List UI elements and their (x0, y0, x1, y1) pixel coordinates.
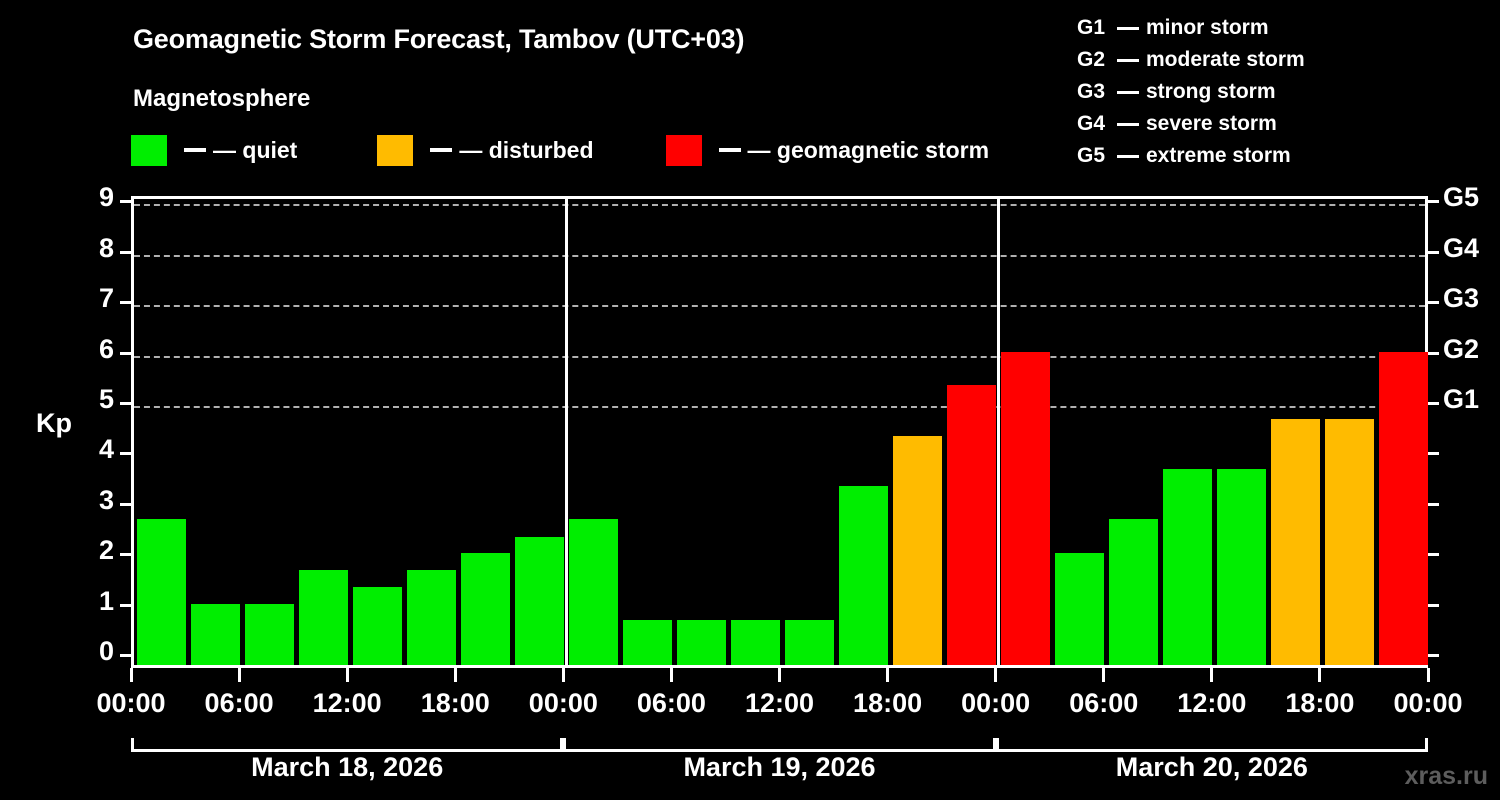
bar-quiet-20 (1217, 469, 1266, 665)
legend-swatch-disturbed-icon (377, 135, 413, 166)
date-label-1: March 18, 2026 (251, 752, 443, 783)
x-tick-11 (1318, 668, 1321, 682)
g-legend-description: moderate storm (1146, 48, 1305, 72)
x-tick-label-10: 12:00 (1177, 688, 1246, 719)
legend-dash-icon (719, 148, 741, 152)
x-tick-label-8: 00:00 (961, 688, 1030, 719)
legend-label-storm: — geomagnetic storm (748, 137, 990, 164)
x-tick-0 (130, 668, 133, 682)
x-tick-8 (994, 668, 997, 682)
bar-quiet-7 (515, 537, 564, 665)
em-dash-icon (1117, 91, 1139, 94)
y-right-tick-kp-1 (1428, 604, 1439, 607)
bar-quiet-10 (677, 620, 726, 665)
x-tick-9 (1102, 668, 1105, 682)
legend-label-quiet: — quiet (213, 137, 297, 164)
y-right-tick-kp-5 (1428, 402, 1439, 405)
y-tick-label-9: 9 (74, 182, 114, 213)
g-legend-row-g4: G4severe storm (1077, 108, 1305, 140)
g-axis-label-g1: G1 (1443, 384, 1479, 415)
bar-disturbed-21 (1271, 419, 1320, 665)
g-legend-code: G5 (1077, 144, 1110, 168)
bar-quiet-2 (245, 604, 294, 665)
y-tick-label-4: 4 (74, 434, 114, 465)
bar-quiet-5 (407, 570, 456, 665)
bar-quiet-17 (1055, 553, 1104, 665)
x-tick-label-5: 06:00 (637, 688, 706, 719)
x-tick-label-12: 00:00 (1393, 688, 1462, 719)
y-right-tick-kp-3 (1428, 503, 1439, 506)
g-legend-description: strong storm (1146, 80, 1276, 104)
x-tick-label-3: 18:00 (421, 688, 490, 719)
x-tick-6 (778, 668, 781, 682)
legend-entry-quiet: — quiet (131, 133, 297, 167)
y-tick-4 (120, 452, 131, 455)
geomagnetic-forecast-chart: Geomagnetic Storm Forecast, Tambov (UTC+… (0, 0, 1500, 800)
y-tick-6 (120, 352, 131, 355)
day-bracket-1 (131, 738, 563, 752)
x-tick-4 (562, 668, 565, 682)
magnetosphere-heading: Magnetosphere (133, 85, 310, 113)
bar-quiet-12 (785, 620, 834, 665)
magnetosphere-legend: — quiet — disturbed — geomagnetic storm (131, 133, 989, 167)
y-tick-label-2: 2 (74, 535, 114, 566)
g-axis-label-g3: G3 (1443, 283, 1479, 314)
legend-entry-storm: — geomagnetic storm (666, 133, 990, 167)
y-tick-3 (120, 503, 131, 506)
legend-swatch-storm-icon (666, 135, 702, 166)
bar-storm-15 (947, 385, 996, 665)
bar-quiet-13 (839, 486, 888, 665)
em-dash-icon (1117, 27, 1139, 30)
day-bracket-3 (996, 738, 1428, 752)
y-tick-label-3: 3 (74, 485, 114, 516)
x-tick-5 (670, 668, 673, 682)
y-tick-1 (120, 604, 131, 607)
day-bracket-2 (563, 738, 995, 752)
watermark: xras.ru (1405, 762, 1488, 791)
legend-dash-icon (430, 148, 452, 152)
x-tick-10 (1210, 668, 1213, 682)
y-tick-8 (120, 251, 131, 254)
legend-entry-disturbed: — disturbed (377, 133, 593, 167)
bar-quiet-9 (623, 620, 672, 665)
em-dash-icon (1117, 59, 1139, 62)
em-dash-icon (1117, 123, 1139, 126)
bar-quiet-4 (353, 587, 402, 665)
plot-area (131, 196, 1428, 668)
x-tick-label-6: 12:00 (745, 688, 814, 719)
y-tick-0 (120, 654, 131, 657)
x-tick-label-11: 18:00 (1285, 688, 1354, 719)
x-tick-label-2: 12:00 (313, 688, 382, 719)
g-legend-code: G1 (1077, 16, 1110, 40)
x-tick-2 (346, 668, 349, 682)
x-tick-label-7: 18:00 (853, 688, 922, 719)
page-title: Geomagnetic Storm Forecast, Tambov (UTC+… (133, 24, 744, 55)
g-axis-label-g4: G4 (1443, 233, 1479, 264)
g-scale-legend: G1minor stormG2moderate stormG3strong st… (1077, 12, 1305, 172)
date-label-2: March 19, 2026 (683, 752, 875, 783)
bar-quiet-19 (1163, 469, 1212, 665)
y-tick-5 (120, 402, 131, 405)
g-legend-row-g1: G1minor storm (1077, 12, 1305, 44)
bar-quiet-0 (137, 519, 186, 665)
x-tick-label-1: 06:00 (205, 688, 274, 719)
y-right-tick-kp-9 (1428, 200, 1439, 203)
g-legend-description: extreme storm (1146, 144, 1291, 168)
y-axis-title: Kp (36, 408, 72, 439)
y-tick-7 (120, 301, 131, 304)
g-legend-code: G3 (1077, 80, 1110, 104)
x-tick-label-4: 00:00 (529, 688, 598, 719)
x-tick-label-0: 00:00 (96, 688, 165, 719)
g-axis-label-g5: G5 (1443, 182, 1479, 213)
x-tick-3 (454, 668, 457, 682)
y-tick-label-7: 7 (74, 283, 114, 314)
date-label-3: March 20, 2026 (1116, 752, 1308, 783)
bar-quiet-11 (731, 620, 780, 665)
x-tick-label-9: 06:00 (1069, 688, 1138, 719)
g-legend-row-g5: G5extreme storm (1077, 140, 1305, 172)
bar-quiet-1 (191, 604, 240, 665)
g-legend-code: G4 (1077, 112, 1110, 136)
x-tick-7 (886, 668, 889, 682)
y-tick-label-6: 6 (74, 334, 114, 365)
bar-disturbed-22 (1325, 419, 1374, 665)
bar-series (134, 199, 1425, 665)
bar-quiet-18 (1109, 519, 1158, 665)
legend-dash-icon (184, 148, 206, 152)
g-axis-label-g2: G2 (1443, 334, 1479, 365)
x-tick-1 (238, 668, 241, 682)
y-right-tick-kp-8 (1428, 251, 1439, 254)
bar-quiet-8 (569, 519, 618, 665)
y-tick-label-8: 8 (74, 233, 114, 264)
g-legend-row-g3: G3strong storm (1077, 76, 1305, 108)
g-legend-description: minor storm (1146, 16, 1269, 40)
y-right-tick-kp-6 (1428, 352, 1439, 355)
g-legend-description: severe storm (1146, 112, 1277, 136)
bar-quiet-6 (461, 553, 510, 665)
g-legend-code: G2 (1077, 48, 1110, 72)
bar-quiet-3 (299, 570, 348, 665)
y-right-tick-kp-0 (1428, 654, 1439, 657)
bar-storm-16 (1001, 352, 1050, 665)
y-tick-label-1: 1 (74, 586, 114, 617)
bar-disturbed-14 (893, 436, 942, 665)
y-tick-label-5: 5 (74, 384, 114, 415)
y-tick-9 (120, 200, 131, 203)
legend-label-disturbed: — disturbed (459, 137, 593, 164)
g-legend-row-g2: G2moderate storm (1077, 44, 1305, 76)
y-right-tick-kp-2 (1428, 553, 1439, 556)
em-dash-icon (1117, 155, 1139, 158)
bar-storm-23 (1379, 352, 1428, 665)
y-tick-label-0: 0 (74, 636, 114, 667)
y-right-tick-kp-7 (1428, 301, 1439, 304)
y-tick-2 (120, 553, 131, 556)
y-right-tick-kp-4 (1428, 452, 1439, 455)
legend-swatch-quiet-icon (131, 135, 167, 166)
x-tick-12 (1427, 668, 1430, 682)
